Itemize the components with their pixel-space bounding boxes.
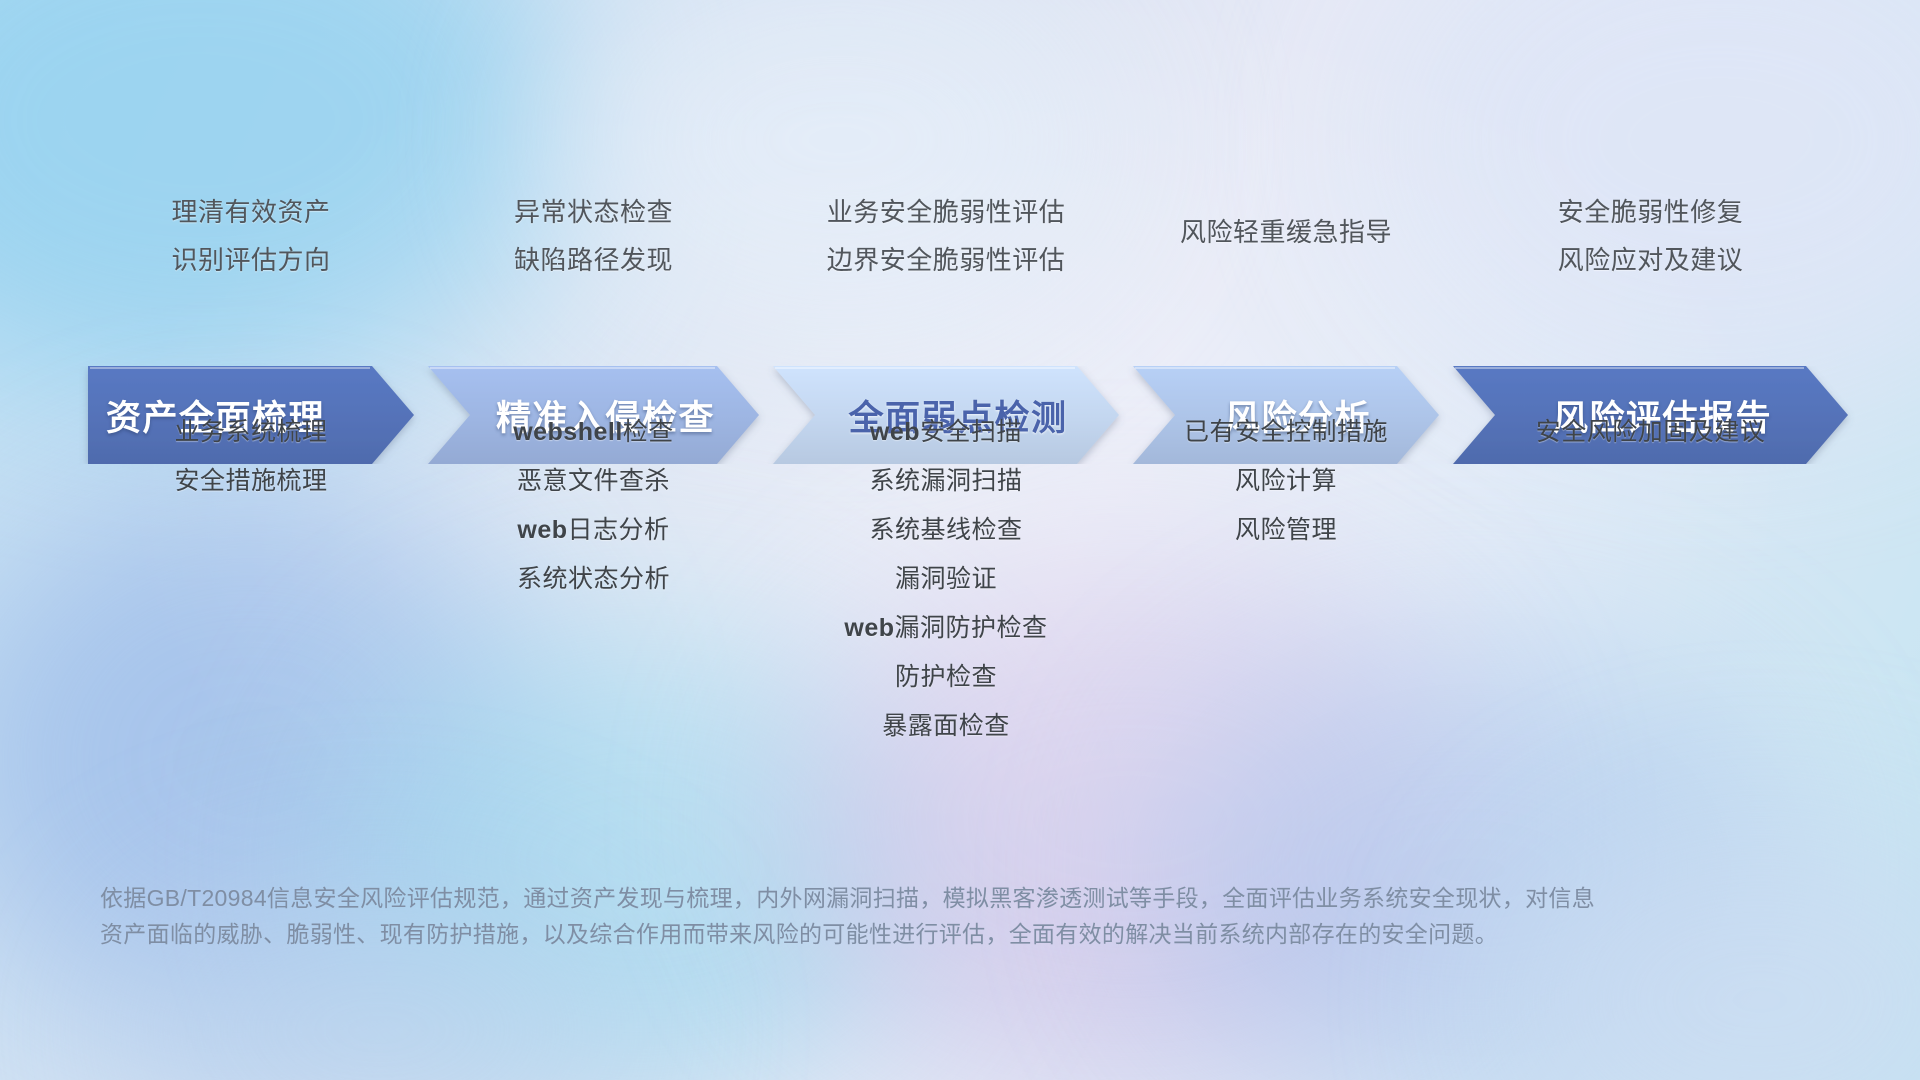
item-list-stage-2: webshell检查恶意文件查杀web日志分析系统状态分析 — [428, 408, 759, 604]
top-label: 边界安全脆弱性评估 — [773, 236, 1119, 284]
list-item: 防护检查 — [773, 653, 1119, 702]
list-item: 安全措施梳理 — [88, 457, 414, 506]
list-item: 系统基线检查 — [773, 506, 1119, 555]
list-item: webshell检查 — [428, 408, 759, 457]
list-item: web安全扫描 — [773, 408, 1119, 457]
item-list-stage-4: 已有安全控制措施风险计算风险管理 — [1133, 408, 1439, 555]
footer-description: 依据GB/T20984信息安全风险评估规范，通过资产发现与梳理，内外网漏洞扫描，… — [100, 880, 1800, 952]
top-labels-stage-5: 安全脆弱性修复风险应对及建议 — [1453, 188, 1848, 284]
top-label: 业务安全脆弱性评估 — [773, 188, 1119, 236]
item-list-stage-1: 业务系统梳理安全措施梳理 — [88, 408, 414, 506]
footer-line-1: 依据GB/T20984信息安全风险评估规范，通过资产发现与梳理，内外网漏洞扫描，… — [100, 880, 1800, 916]
list-item: 恶意文件查杀 — [428, 457, 759, 506]
top-label: 风险轻重缓急指导 — [1133, 208, 1439, 256]
top-labels-stage-4: 风险轻重缓急指导 — [1133, 208, 1439, 256]
list-item: 风险计算 — [1133, 457, 1439, 506]
item-bold-prefix: web — [517, 516, 567, 544]
top-labels-stage-2: 异常状态检查缺陷路径发现 — [428, 188, 759, 284]
list-item: 漏洞验证 — [773, 555, 1119, 604]
top-label: 风险应对及建议 — [1453, 236, 1848, 284]
top-label: 理清有效资产 — [88, 188, 414, 236]
list-item: 暴露面检查 — [773, 702, 1119, 751]
list-item: 系统状态分析 — [428, 555, 759, 604]
item-list-stage-3: web安全扫描系统漏洞扫描系统基线检查漏洞验证web漏洞防护检查防护检查暴露面检… — [773, 408, 1119, 751]
list-item: 已有安全控制措施 — [1133, 408, 1439, 457]
item-bold-prefix: webshell — [513, 418, 623, 446]
list-item: 安全风险加固及建议 — [1453, 408, 1848, 457]
top-label: 识别评估方向 — [88, 236, 414, 284]
top-label: 安全脆弱性修复 — [1453, 188, 1848, 236]
top-label: 异常状态检查 — [428, 188, 759, 236]
top-label: 缺陷路径发现 — [428, 236, 759, 284]
list-item: 系统漏洞扫描 — [773, 457, 1119, 506]
slide-canvas: 理清有效资产识别评估方向资产全面梳理业务系统梳理安全措施梳理异常状态检查缺陷路径… — [0, 0, 1920, 1080]
list-item: 风险管理 — [1133, 506, 1439, 555]
top-labels-stage-1: 理清有效资产识别评估方向 — [88, 188, 414, 284]
top-labels-stage-3: 业务安全脆弱性评估边界安全脆弱性评估 — [773, 188, 1119, 284]
footer-line-2: 资产面临的威胁、脆弱性、现有防护措施，以及综合作用而带来风险的可能性进行评估，全… — [100, 916, 1800, 952]
list-item: web日志分析 — [428, 506, 759, 555]
list-item: 业务系统梳理 — [88, 408, 414, 457]
item-list-stage-5: 安全风险加固及建议 — [1453, 408, 1848, 457]
item-bold-prefix: web — [870, 418, 920, 446]
item-bold-prefix: web — [844, 614, 894, 642]
list-item: web漏洞防护检查 — [773, 604, 1119, 653]
